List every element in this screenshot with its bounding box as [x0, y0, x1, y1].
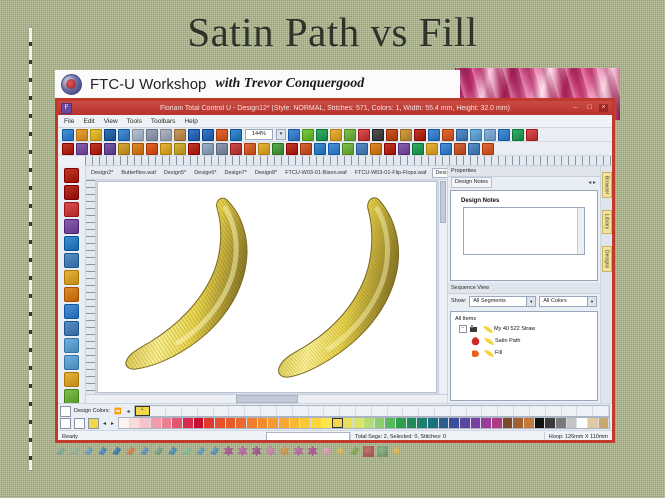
flower-icon	[237, 446, 248, 457]
color-swatch[interactable]	[388, 406, 404, 416]
redo-icon[interactable]	[202, 129, 214, 141]
star-icon	[391, 446, 402, 457]
color-swatch[interactable]	[419, 406, 435, 416]
paste-icon[interactable]	[174, 129, 186, 141]
text-effects-icon[interactable]	[90, 143, 102, 155]
tree-item-fill[interactable]: Fill	[471, 349, 593, 358]
digitize-icon[interactable]	[174, 143, 186, 155]
help-icon[interactable]	[526, 129, 538, 141]
properties-panel-title: Properties	[448, 166, 600, 177]
design-tab-design7[interactable]: Design7*	[223, 169, 249, 177]
color-swatch[interactable]	[364, 418, 375, 428]
color-swatch[interactable]	[451, 406, 467, 416]
motif-fill-icon[interactable]	[160, 143, 172, 155]
color-swatch[interactable]	[481, 418, 492, 428]
design-colors-area: Design Colors: ⏪ ◂ 1 ◂ ▸	[58, 403, 612, 430]
design-tab-bison[interactable]: FTCU-W03-01-Bison.waf	[283, 169, 348, 177]
designs-icon[interactable]	[482, 143, 494, 155]
color-swatch[interactable]	[182, 406, 198, 416]
reshape-icon[interactable]	[356, 143, 368, 155]
color-swatch[interactable]	[599, 418, 610, 428]
color-swatch[interactable]	[353, 418, 364, 428]
bird-icon	[153, 446, 164, 457]
palette-next2-icon[interactable]: ▸	[110, 420, 115, 427]
open-folder-icon[interactable]	[76, 129, 88, 141]
star-tool-icon[interactable]	[258, 143, 270, 155]
color-swatch[interactable]	[372, 406, 388, 416]
cleanup-icon[interactable]	[426, 143, 438, 155]
palette-list-icon[interactable]	[60, 418, 71, 429]
color-swatch[interactable]	[471, 418, 482, 428]
color-swatch[interactable]	[514, 406, 530, 416]
side-tab-designs[interactable]: Designs	[602, 246, 612, 272]
zoom-tool-icon[interactable]	[64, 236, 79, 251]
pen-tool-icon[interactable]	[64, 287, 79, 302]
color-swatch[interactable]	[356, 406, 372, 416]
decorative-icon-strip	[55, 443, 615, 459]
cut-icon[interactable]	[146, 129, 158, 141]
color-swatch[interactable]	[119, 418, 130, 428]
status-stats: Total Segs: 2, Selected: 0, Stitches: 0	[350, 432, 544, 442]
color-swatch[interactable]	[300, 418, 311, 428]
vertical-ruler	[86, 180, 96, 394]
color-swatch[interactable]	[492, 418, 503, 428]
menu-item-edit[interactable]: Edit	[83, 118, 94, 125]
thread-palette-swatches[interactable]	[118, 417, 610, 429]
properties-icon[interactable]	[330, 129, 342, 141]
main-toolbar: 144%▾	[58, 128, 612, 142]
merge-tool-icon[interactable]	[314, 143, 326, 155]
banana-thumb-icon	[483, 349, 492, 358]
color-sort-icon[interactable]	[344, 129, 356, 141]
density-map-icon[interactable]	[384, 143, 396, 155]
menu-item-toolbars[interactable]: Toolbars	[151, 118, 176, 125]
hoop-icon[interactable]	[216, 129, 228, 141]
color-swatch[interactable]	[556, 418, 567, 428]
color-swatch[interactable]	[172, 418, 183, 428]
menu-item-tools[interactable]: Tools	[127, 118, 142, 125]
status-hoop: Hoop: 126mm X 110mm	[544, 432, 612, 442]
color-swatch[interactable]	[258, 418, 269, 428]
monogram-icon[interactable]	[414, 129, 426, 141]
color-swatch[interactable]	[236, 418, 247, 428]
script-text-icon[interactable]	[76, 143, 88, 155]
split-tool-icon[interactable]	[300, 143, 312, 155]
applique-icon[interactable]	[400, 129, 412, 141]
star-icon	[335, 446, 346, 457]
design-colors-label: Design Colors:	[74, 408, 110, 414]
design-tab-design2[interactable]: Design2*	[89, 169, 115, 177]
node-select-tool-icon[interactable]	[64, 202, 79, 217]
satin-path-banana[interactable]	[120, 194, 270, 379]
design-tab-butterflies[interactable]: Butterflies.waf	[119, 169, 158, 177]
color-swatch[interactable]	[343, 418, 354, 428]
tree-item-satin-path[interactable]: Satin Path	[471, 337, 593, 346]
current-color-swatch[interactable]	[88, 418, 99, 429]
color-swatch[interactable]	[247, 418, 258, 428]
sequence-panel-title: Sequence View	[448, 283, 600, 294]
fill-tool-icon[interactable]	[64, 304, 79, 319]
measure-tool-icon[interactable]	[64, 270, 79, 285]
color-swatch[interactable]	[385, 418, 396, 428]
circle-tool-icon[interactable]	[244, 143, 256, 155]
colors-filter-value: All Colors	[543, 298, 567, 304]
measure-icon[interactable]	[370, 143, 382, 155]
leaf-tool-icon[interactable]	[272, 143, 284, 155]
rotate-icon[interactable]	[512, 129, 524, 141]
bird-icon	[83, 446, 94, 457]
color-swatch[interactable]	[417, 418, 428, 428]
design-tab-design6[interactable]: Design6*	[192, 169, 218, 177]
echo-quilt-icon[interactable]	[216, 143, 228, 155]
pattern-tool-icon[interactable]	[64, 372, 79, 387]
design-tab-flip-flops[interactable]: FTCU-W03-01-Flip-Flops.waf	[353, 169, 429, 177]
color-swatch[interactable]: 1	[135, 406, 151, 416]
grid-tool-icon[interactable]	[64, 321, 79, 336]
settings-gear-icon[interactable]	[230, 129, 242, 141]
color-swatch[interactable]	[293, 406, 309, 416]
color-swatch[interactable]	[513, 418, 524, 428]
select-stitch-tool-icon[interactable]	[64, 185, 79, 200]
menu-item-view[interactable]: View	[104, 118, 118, 125]
satin-segment-icon	[471, 337, 480, 346]
color-swatch[interactable]	[245, 406, 261, 416]
color-swatch[interactable]	[261, 406, 277, 416]
thread-chart-icon[interactable]	[60, 406, 71, 417]
satin-fill-icon[interactable]	[132, 143, 144, 155]
color-swatch[interactable]	[183, 418, 194, 428]
lasso-tool-icon[interactable]	[64, 219, 79, 234]
tree-item-label: Fill	[495, 350, 502, 356]
color-swatch[interactable]	[150, 406, 166, 416]
bird-icon	[139, 446, 150, 457]
color-swatch[interactable]	[428, 418, 439, 428]
bird-icon	[125, 446, 136, 457]
copy-icon[interactable]	[160, 129, 172, 141]
stitch-simulator-icon[interactable]	[302, 129, 314, 141]
color-swatch[interactable]	[396, 418, 407, 428]
align-right-tool-icon[interactable]	[64, 355, 79, 370]
cross-stitch-icon[interactable]	[188, 143, 200, 155]
color-swatch[interactable]	[588, 418, 599, 428]
slide-title: Satin Path vs Fill	[0, 8, 665, 56]
window-titlebar: F Floriani Total Control U - Design12* (…	[58, 101, 612, 115]
color-swatch[interactable]	[498, 406, 514, 416]
node-edit-icon[interactable]	[342, 143, 354, 155]
connect-tool-icon[interactable]	[64, 389, 79, 403]
scrollbar-thumb[interactable]	[440, 181, 446, 223]
canvas-vertical-scrollbar[interactable]	[438, 180, 447, 394]
sequence-tree[interactable]: All Items − My 40 522 Straw	[450, 311, 598, 402]
save-icon[interactable]	[104, 129, 116, 141]
properties-tab-row: Design Notes ◂ ▸	[448, 177, 600, 188]
pan-tool-icon[interactable]	[64, 253, 79, 268]
color-swatch[interactable]	[277, 406, 293, 416]
workshop-title: FTC-U Workshop	[90, 76, 206, 93]
color-swatch[interactable]	[503, 418, 514, 428]
sequence-filter-row: Show: All Segments ▾ All Colors ▾	[448, 294, 600, 309]
bird-icon	[111, 446, 122, 457]
palette-prev-icon[interactable]: ◂	[126, 408, 131, 415]
color-swatch[interactable]	[407, 418, 418, 428]
color-swatch[interactable]	[460, 418, 471, 428]
leaf-icon	[349, 446, 360, 457]
color-swatch[interactable]	[340, 406, 356, 416]
text-tool-icon[interactable]	[62, 143, 74, 155]
bird-icon	[181, 446, 192, 457]
status-progress-bar	[266, 432, 350, 442]
auto-digitize-icon[interactable]	[398, 143, 410, 155]
design-canvas[interactable]	[97, 181, 437, 393]
mirror-icon[interactable]	[498, 129, 510, 141]
application-window: F Floriani Total Control U - Design12* (…	[55, 98, 615, 443]
scrollbar-thumb[interactable]	[236, 395, 298, 403]
color-swatch[interactable]	[279, 418, 290, 428]
flower-icon	[279, 446, 290, 457]
workshop-header: FTC-U Workshop with Trevor Conquergood	[55, 70, 460, 98]
color-swatch[interactable]	[449, 418, 460, 428]
library-icon[interactable]	[454, 143, 466, 155]
canvas-horizontal-scrollbar[interactable]	[86, 394, 447, 403]
colors-filter-select[interactable]: All Colors ▾	[539, 296, 597, 307]
status-bar: Ready Total Segs: 2, Selected: 0, Stitch…	[58, 430, 612, 443]
color-swatch[interactable]	[545, 418, 556, 428]
quilt-icon[interactable]	[202, 143, 214, 155]
undo-icon[interactable]	[188, 129, 200, 141]
bird-icon	[167, 446, 178, 457]
menu-bar: File Edit View Tools Toolbars Help	[58, 115, 612, 128]
menu-item-help[interactable]: Help	[184, 118, 197, 125]
color-swatch[interactable]	[166, 406, 182, 416]
tree-expander-icon[interactable]: −	[459, 325, 467, 333]
group-icon[interactable]	[484, 129, 496, 141]
baste-icon[interactable]	[386, 129, 398, 141]
align-left-tool-icon[interactable]	[64, 338, 79, 353]
tab-design-notes[interactable]: Design Notes	[451, 177, 492, 188]
color-swatch[interactable]	[214, 406, 230, 416]
chevron-down-icon[interactable]: ▾	[526, 297, 535, 306]
tree-item-label: My 40 522 Straw	[494, 326, 535, 332]
sigma-icon[interactable]	[372, 129, 384, 141]
bird-icon	[97, 446, 108, 457]
segments-filter-value: All Segments	[473, 298, 505, 304]
palette-prev2-icon[interactable]: ◂	[102, 420, 107, 427]
palette-first-icon[interactable]: ⏪	[113, 408, 122, 415]
flower-icon	[223, 446, 234, 457]
fill-banana[interactable]	[273, 196, 423, 386]
color-swatch[interactable]	[309, 406, 325, 416]
color-block-icon	[470, 325, 479, 334]
color-swatch[interactable]	[593, 406, 609, 416]
presentation-slide: Satin Path vs Fill FTC-U Workshop with T…	[0, 0, 665, 498]
status-ready: Ready	[58, 432, 266, 442]
palette-row-1: Design Colors: ⏪ ◂ 1	[60, 405, 610, 417]
density-icon[interactable]	[358, 129, 370, 141]
color-swatch[interactable]	[311, 418, 322, 428]
color-swatch[interactable]	[577, 418, 588, 428]
color-swatch[interactable]	[324, 406, 340, 416]
color-swatch[interactable]	[535, 418, 546, 428]
left-tool-palette	[58, 166, 86, 403]
color-swatch[interactable]	[482, 406, 498, 416]
bird-icon	[195, 446, 206, 457]
photo-stitch-icon[interactable]	[412, 143, 424, 155]
color-swatch[interactable]	[194, 418, 205, 428]
save-as-icon[interactable]	[118, 129, 130, 141]
color-swatch[interactable]	[435, 406, 451, 416]
palette-row-2: ◂ ▸	[60, 417, 610, 429]
properties-prev-icon[interactable]: ◂	[588, 180, 591, 186]
square-icon	[363, 446, 374, 457]
properties-tab-nav: ◂ ▸	[588, 179, 600, 186]
tree-item-label: Satin Path	[495, 338, 520, 344]
color-swatch[interactable]	[530, 406, 546, 416]
show-label: Show:	[451, 298, 466, 304]
design-colors-swatches[interactable]: 1	[134, 405, 610, 417]
color-swatch[interactable]	[140, 418, 151, 428]
align-icon[interactable]	[470, 129, 482, 141]
properties-next-icon[interactable]: ▸	[593, 180, 596, 186]
export-icon[interactable]	[440, 143, 452, 155]
color-swatch[interactable]	[130, 418, 141, 428]
flower-icon	[251, 446, 262, 457]
select-tool-icon[interactable]	[64, 168, 79, 183]
flower-icon	[293, 446, 304, 457]
design-tab-label: Design12*	[435, 170, 447, 176]
color-swatch[interactable]	[546, 406, 562, 416]
color-swatch[interactable]	[268, 418, 279, 428]
color-swatch[interactable]	[290, 418, 301, 428]
color-swatch[interactable]	[332, 418, 343, 428]
3d-view-icon[interactable]	[316, 129, 328, 141]
trim-tool-icon[interactable]	[328, 143, 340, 155]
frame-text-icon[interactable]	[118, 143, 130, 155]
square-icon	[377, 446, 388, 457]
color-swatch[interactable]	[567, 418, 578, 428]
flower-icon	[307, 446, 318, 457]
color-swatch[interactable]	[375, 418, 386, 428]
design-tab-strip: Design2* Butterflies.waf Design5* Design…	[86, 166, 447, 180]
satin-segment-icon	[482, 325, 491, 334]
color-swatch[interactable]	[562, 406, 578, 416]
design-tab-design5[interactable]: Design5*	[162, 169, 188, 177]
color-swatch[interactable]	[403, 406, 419, 416]
notes-scrollbar[interactable]	[577, 208, 584, 254]
side-tab-browser[interactable]: Browser	[602, 172, 612, 198]
color-swatch[interactable]	[151, 418, 162, 428]
border-tool-icon[interactable]	[286, 143, 298, 155]
right-dock: Properties Design Notes ◂ ▸ Design Notes	[447, 166, 600, 403]
secondary-toolbar	[58, 142, 612, 156]
design-tab-design12[interactable]: Design12* ×	[432, 168, 447, 178]
fill-segment-icon	[471, 349, 480, 358]
flower-icon	[265, 446, 276, 457]
horizontal-ruler	[85, 156, 612, 166]
tatami-fill-icon[interactable]	[146, 143, 158, 155]
shape-icon[interactable]	[442, 129, 454, 141]
new-file-icon[interactable]	[62, 129, 74, 141]
window-title: Floriani Total Control U - Design12* (St…	[58, 105, 612, 112]
color-swatch[interactable]	[226, 418, 237, 428]
tree-item-color-block[interactable]: − My 40 522 Straw	[459, 325, 593, 334]
color-swatch[interactable]	[577, 406, 593, 416]
decorative-stitch-line	[29, 28, 32, 470]
workshop-presenter: with Trevor Conquergood	[215, 76, 364, 92]
open-design-icon[interactable]	[90, 129, 102, 141]
lettering-icon[interactable]	[428, 129, 440, 141]
design-notes-input[interactable]	[463, 207, 585, 255]
side-tab-library[interactable]: Library	[602, 210, 612, 233]
text-warp-icon[interactable]	[104, 143, 116, 155]
tree-root-label: All Items	[455, 316, 593, 322]
flower-icon	[321, 446, 332, 457]
color-swatch[interactable]	[198, 406, 214, 416]
bird-icon	[209, 446, 220, 457]
print-icon[interactable]	[132, 129, 144, 141]
zoom-level-input[interactable]: 144%	[245, 129, 273, 140]
color-swatch[interactable]	[439, 418, 450, 428]
design-notes-label: Design Notes	[461, 198, 593, 204]
color-swatch[interactable]	[204, 418, 215, 428]
side-tab-strip: Browser Library Designs	[600, 166, 612, 403]
color-swatch[interactable]	[162, 418, 173, 428]
realistic-view-icon[interactable]	[288, 129, 300, 141]
grid-icon[interactable]	[456, 129, 468, 141]
color-swatch[interactable]	[215, 418, 226, 428]
banana-thumb-icon	[483, 337, 492, 346]
design-tab-design8[interactable]: Design8*	[253, 169, 279, 177]
color-swatch[interactable]	[229, 406, 245, 416]
bird-icon	[55, 446, 66, 457]
candlewick-icon[interactable]	[230, 143, 242, 155]
menu-item-file[interactable]: File	[64, 118, 74, 125]
floriani-logo-icon	[61, 74, 82, 95]
color-swatch[interactable]	[467, 406, 483, 416]
chevron-down-icon[interactable]: ▾	[587, 297, 596, 306]
chevron-down-icon[interactable]: ▾	[276, 129, 286, 140]
color-search-icon[interactable]	[74, 418, 85, 429]
browser-icon[interactable]	[468, 143, 480, 155]
color-swatch[interactable]	[524, 418, 535, 428]
bird-icon	[69, 446, 80, 457]
segments-filter-select[interactable]: All Segments ▾	[469, 296, 536, 307]
properties-panel-body: Design Notes	[450, 190, 598, 281]
color-swatch[interactable]	[322, 418, 333, 428]
